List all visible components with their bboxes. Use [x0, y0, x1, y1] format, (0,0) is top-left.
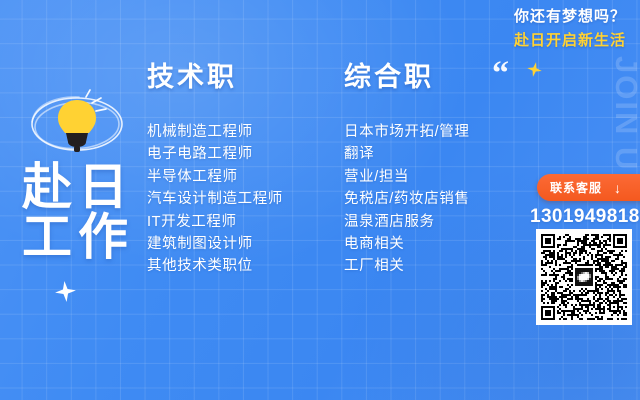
qr-code-image [541, 234, 627, 320]
list-item[interactable]: 营业/担当 [344, 166, 469, 188]
sparkle-star-icon [54, 280, 77, 303]
list-item[interactable]: 电子电路工程师 [147, 143, 283, 165]
job-list-technical: 机械制造工程师 电子电路工程师 半导体工程师 汽车设计制造工程师 IT开发工程师… [147, 121, 283, 278]
join-us-watermark: JOIN U [611, 56, 640, 171]
job-category-heading: 综合职 [344, 62, 469, 93]
list-item[interactable]: 日本市场开拓/管理 [344, 121, 469, 143]
page-title-line-1: 赴日 [22, 162, 134, 212]
job-category-general: 综合职 日本市场开拓/管理 翻译 营业/担当 免税店/药妆店销售 温泉酒店服务 … [344, 62, 469, 278]
list-item[interactable]: 机械制造工程师 [147, 121, 283, 143]
arrow-down-icon: ↓ [614, 181, 621, 195]
list-item[interactable]: 翻译 [344, 143, 469, 165]
list-item[interactable]: 温泉酒店服务 [344, 211, 469, 233]
page-title: 赴日 工作 [22, 162, 134, 262]
lightbulb-icon [24, 84, 130, 164]
qr-code[interactable] [536, 229, 632, 325]
slogan-secondary: 赴日开启新生活 [514, 31, 626, 51]
list-item[interactable]: IT开发工程师 [147, 211, 283, 233]
list-item[interactable]: 其他技术类职位 [147, 255, 283, 277]
sparkle-star-icon [526, 61, 544, 79]
contact-support-label: 联系客服 [550, 179, 602, 196]
list-item[interactable]: 建筑制图设计师 [147, 233, 283, 255]
phone-number[interactable]: 13019498186 [530, 206, 638, 228]
list-item[interactable]: 工厂相关 [344, 255, 469, 277]
page-title-line-2: 工作 [22, 212, 134, 262]
slogan-primary: 你还有梦想吗？ [514, 7, 626, 27]
list-item[interactable]: 半导体工程师 [147, 166, 283, 188]
quotation-mark-icon: “ [492, 57, 509, 91]
job-category-technical: 技术职 机械制造工程师 电子电路工程师 半导体工程师 汽车设计制造工程师 IT开… [147, 62, 283, 278]
contact-support-button[interactable]: 联系客服 ↓ [537, 174, 640, 201]
job-recruitment-banner: JOIN U 你还有梦想吗？ 赴日开启新生活 “ 赴日 工作 [0, 0, 640, 400]
job-category-heading: 技术职 [147, 62, 283, 93]
list-item[interactable]: 免税店/药妆店销售 [344, 188, 469, 210]
list-item[interactable]: 汽车设计制造工程师 [147, 188, 283, 210]
job-list-general: 日本市场开拓/管理 翻译 营业/担当 免税店/药妆店销售 温泉酒店服务 电商相关… [344, 121, 469, 278]
slogan-group: 你还有梦想吗？ 赴日开启新生活 [514, 7, 626, 52]
list-item[interactable]: 电商相关 [344, 233, 469, 255]
